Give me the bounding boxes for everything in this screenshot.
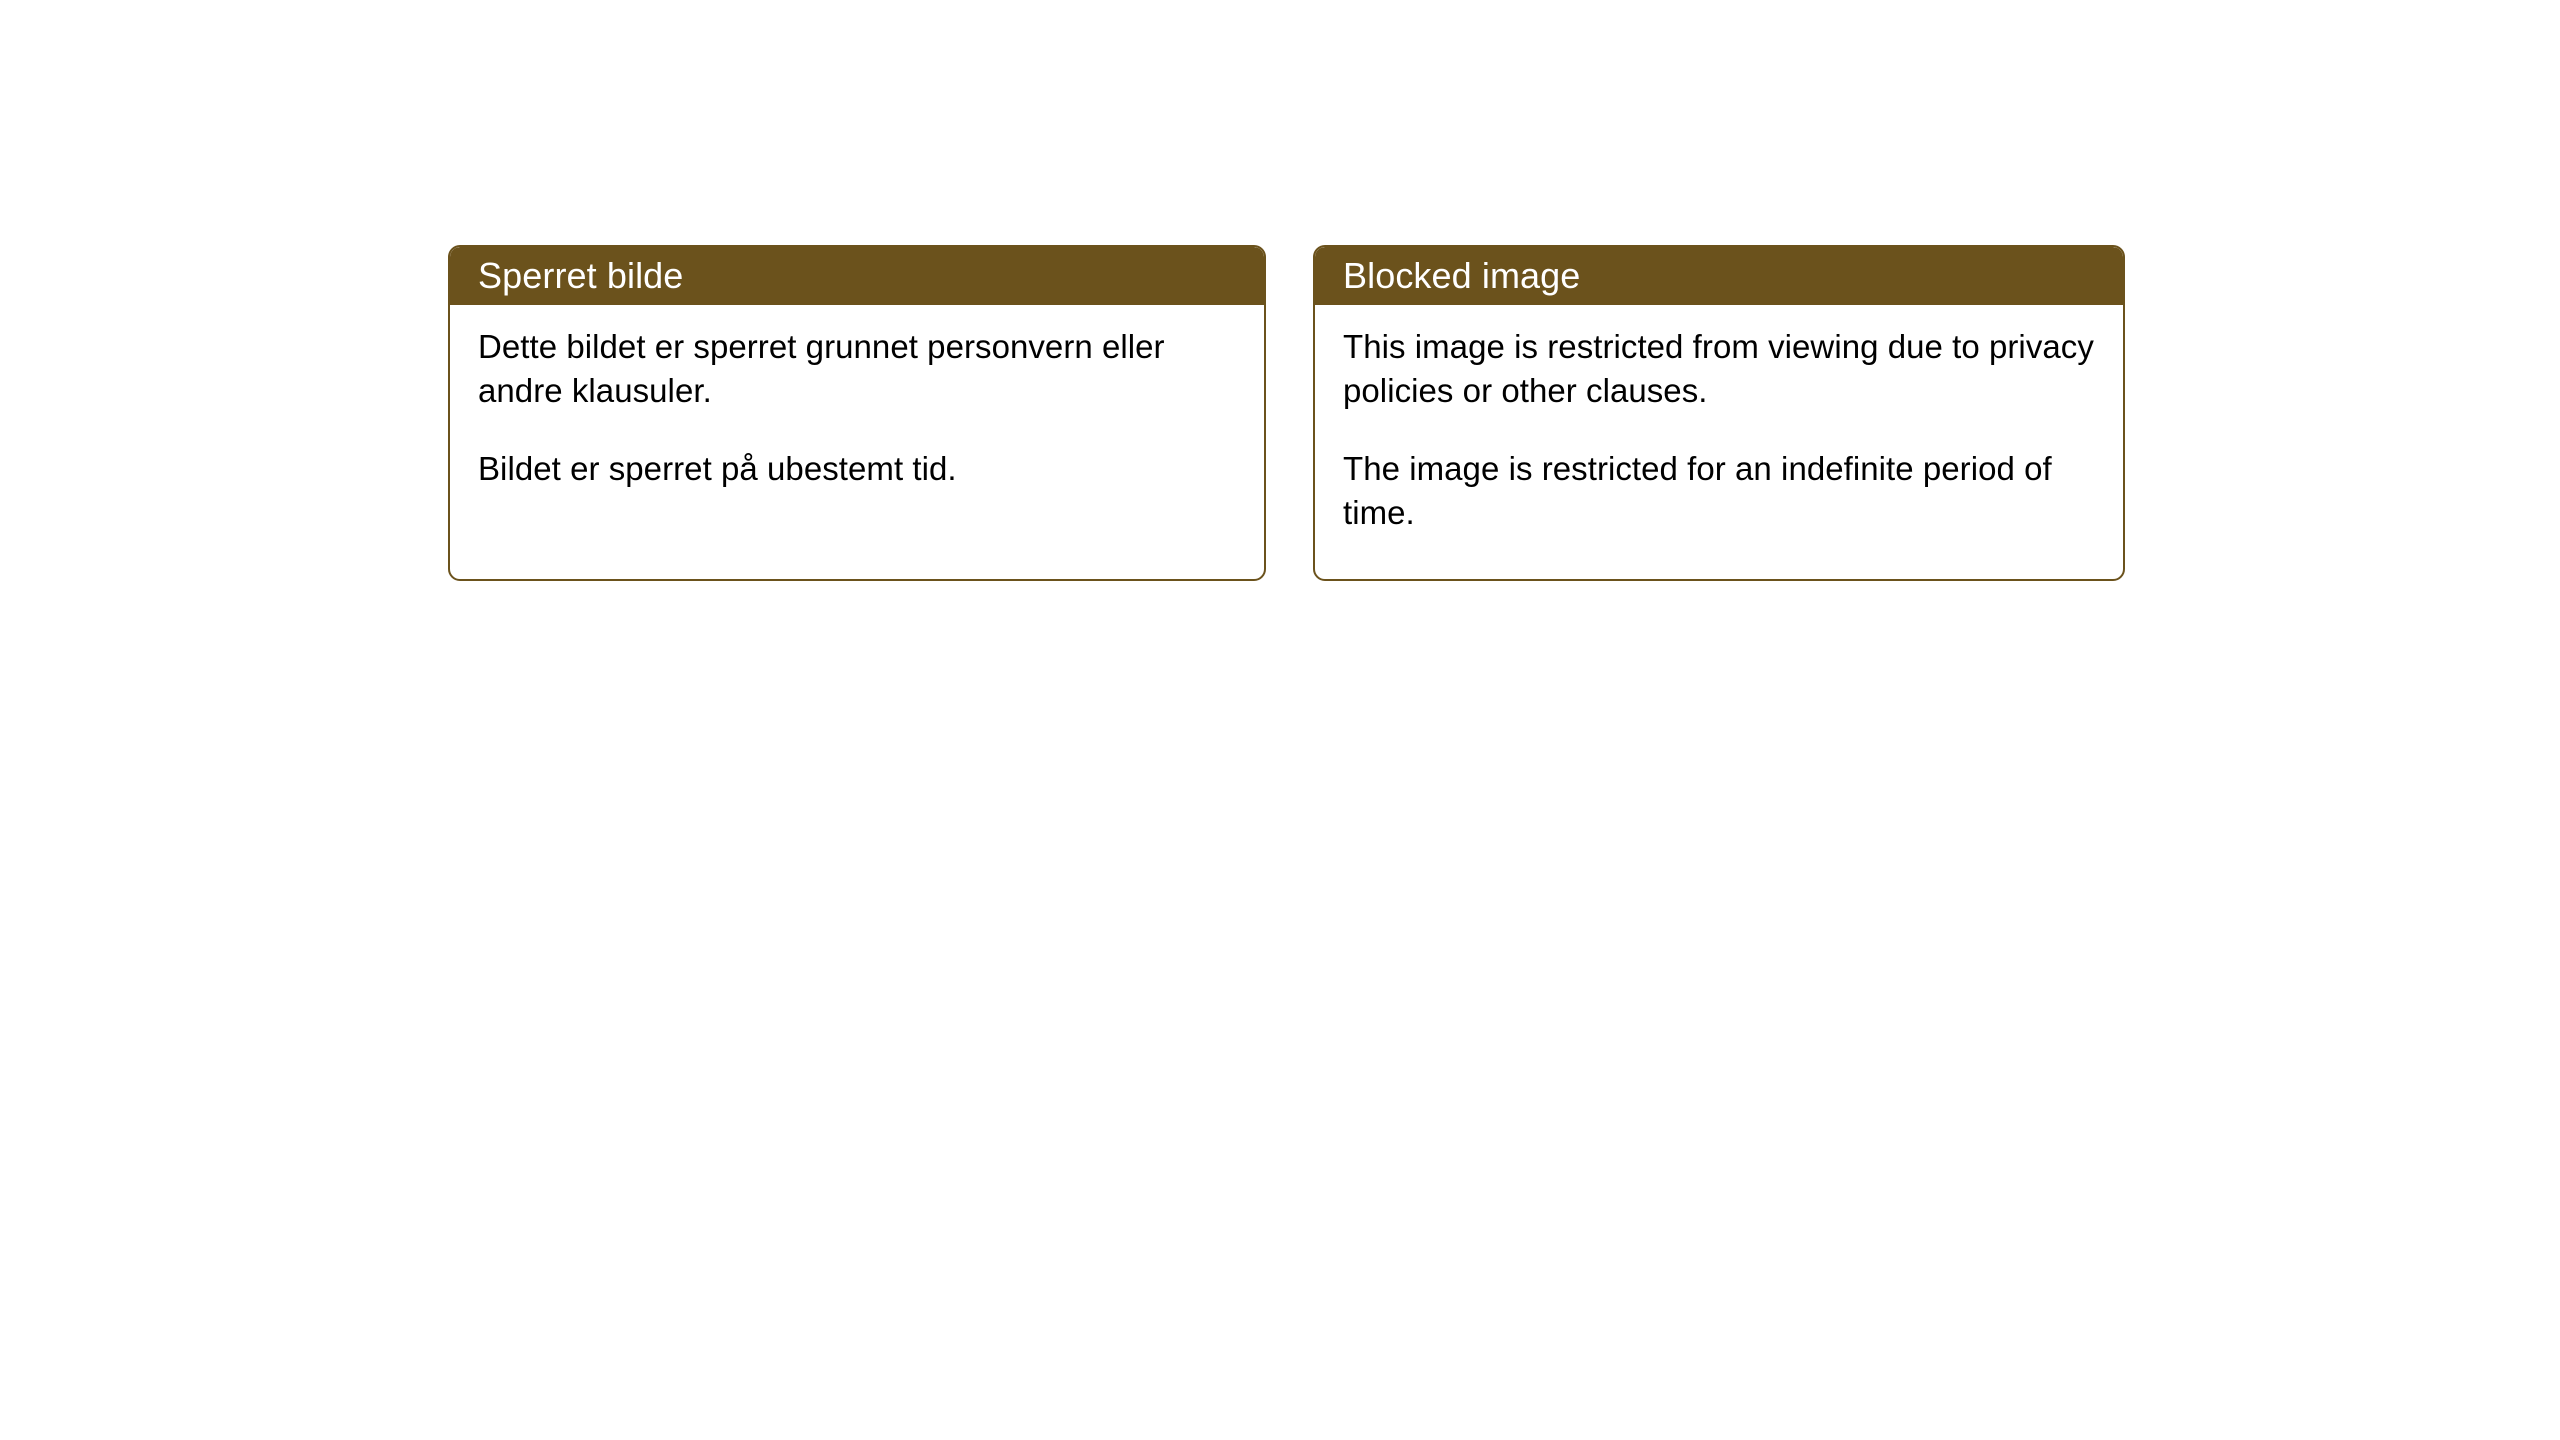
card-paragraph-secondary-norwegian: Bildet er sperret på ubestemt tid. [478,447,1238,491]
card-title-norwegian: Sperret bilde [478,258,683,294]
card-paragraph-secondary-english: The image is restricted for an indefinit… [1343,447,2097,535]
card-body-norwegian: Dette bildet er sperret grunnet personve… [450,305,1264,491]
card-body-english: This image is restricted from viewing du… [1315,305,2123,535]
card-title-english: Blocked image [1343,258,1580,294]
card-header-norwegian: Sperret bilde [450,247,1264,305]
blocked-image-notice-card-english: Blocked image This image is restricted f… [1313,245,2125,581]
card-header-english: Blocked image [1315,247,2123,305]
card-paragraph-primary-norwegian: Dette bildet er sperret grunnet personve… [478,325,1238,413]
page-canvas: Sperret bilde Dette bildet er sperret gr… [0,0,2560,1440]
card-paragraph-primary-english: This image is restricted from viewing du… [1343,325,2097,413]
blocked-image-notice-card-norwegian: Sperret bilde Dette bildet er sperret gr… [448,245,1266,581]
